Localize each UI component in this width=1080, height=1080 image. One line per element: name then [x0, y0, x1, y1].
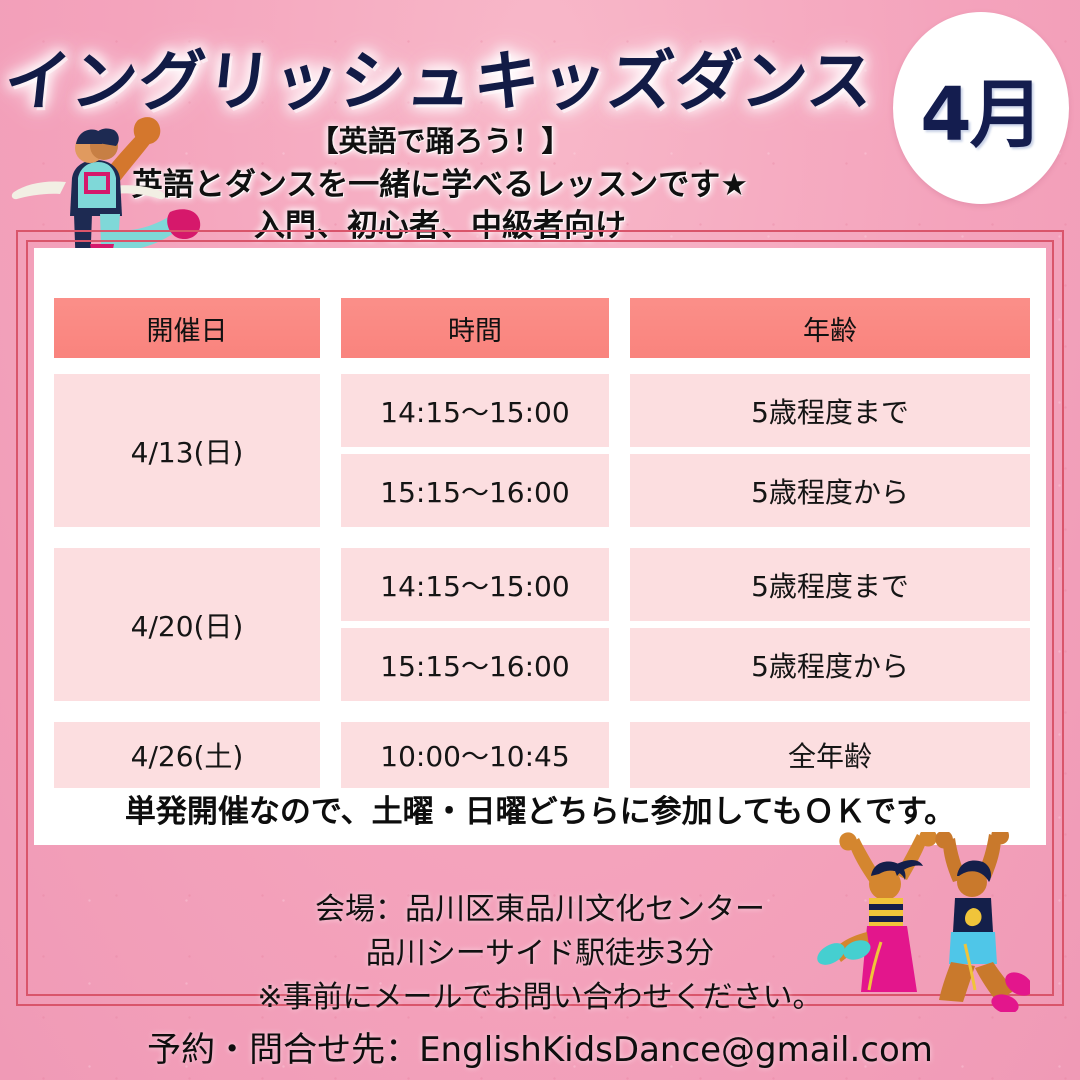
cell-time: 14:15〜15:00	[341, 548, 609, 621]
cell-age: 5歳程度まで	[630, 548, 1030, 621]
notice-text: 単発開催なので、土曜・日曜どちらに参加してもＯＫです。	[0, 786, 1080, 831]
cell-time: 10:00〜10:45	[341, 722, 609, 788]
venue-line-1: 会場：品川区東品川文化センター	[0, 884, 1080, 928]
table-row: 4/20(日) 14:15〜15:00 15:15〜16:00 5歳程度まで 5…	[54, 548, 1030, 701]
cell-age: 5歳程度まで	[630, 374, 1030, 447]
contact-email[interactable]: 予約・問合せ先：EnglishKidsDance@gmail.com	[0, 1022, 1080, 1071]
cell-age: 全年齢	[630, 722, 1030, 788]
cell-date: 4/26(土)	[54, 722, 320, 788]
subtitle-line-2: 英語とダンスを一緒に学べるレッスンです★	[0, 159, 880, 204]
venue-line-3: ※事前にメールでお問い合わせください。	[0, 972, 1080, 1016]
table-row: 4/26(土) 10:00〜10:45 全年齢	[54, 722, 1030, 788]
page-title: イングリッシュキッズダンス	[0, 28, 885, 124]
cell-age: 5歳程度から	[630, 454, 1030, 527]
month-badge-label: 4月	[893, 12, 1069, 204]
cell-date: 4/13(日)	[54, 374, 320, 527]
cell-date: 4/20(日)	[54, 548, 320, 701]
poster-canvas: イングリッシュキッズダンス 【英語で踊ろう！】 英語とダンスを一緒に学べるレッス…	[0, 0, 1080, 1080]
age-stack: 5歳程度まで 5歳程度から	[630, 548, 1030, 701]
subtitle-line-1: 【英語で踊ろう！】	[0, 118, 880, 160]
cell-time: 15:15〜16:00	[341, 454, 609, 527]
column-header-time: 時間	[341, 298, 609, 358]
age-stack: 5歳程度まで 5歳程度から	[630, 374, 1030, 527]
cell-time: 14:15〜15:00	[341, 374, 609, 447]
cell-time: 15:15〜16:00	[341, 628, 609, 701]
month-badge: 4月	[893, 12, 1069, 204]
column-header-age: 年齢	[630, 298, 1030, 358]
table-header-row: 開催日 時間 年齢	[54, 298, 1030, 358]
cell-age: 5歳程度から	[630, 628, 1030, 701]
subtitle-line-3: 入門、初心者、中級者向け	[0, 200, 880, 245]
time-stack: 14:15〜15:00 15:15〜16:00	[341, 374, 609, 527]
column-header-date: 開催日	[54, 298, 320, 358]
venue-line-2: 品川シーサイド駅徒歩3分	[0, 928, 1080, 972]
table-row: 4/13(日) 14:15〜15:00 15:15〜16:00 5歳程度まで 5…	[54, 374, 1030, 527]
poster-header: イングリッシュキッズダンス 【英語で踊ろう！】 英語とダンスを一緒に学べるレッス…	[0, 0, 1080, 252]
time-stack: 14:15〜15:00 15:15〜16:00	[341, 548, 609, 701]
schedule-table: 開催日 時間 年齢 4/13(日) 14:15〜15:00 15:15〜16:0…	[54, 298, 1030, 795]
